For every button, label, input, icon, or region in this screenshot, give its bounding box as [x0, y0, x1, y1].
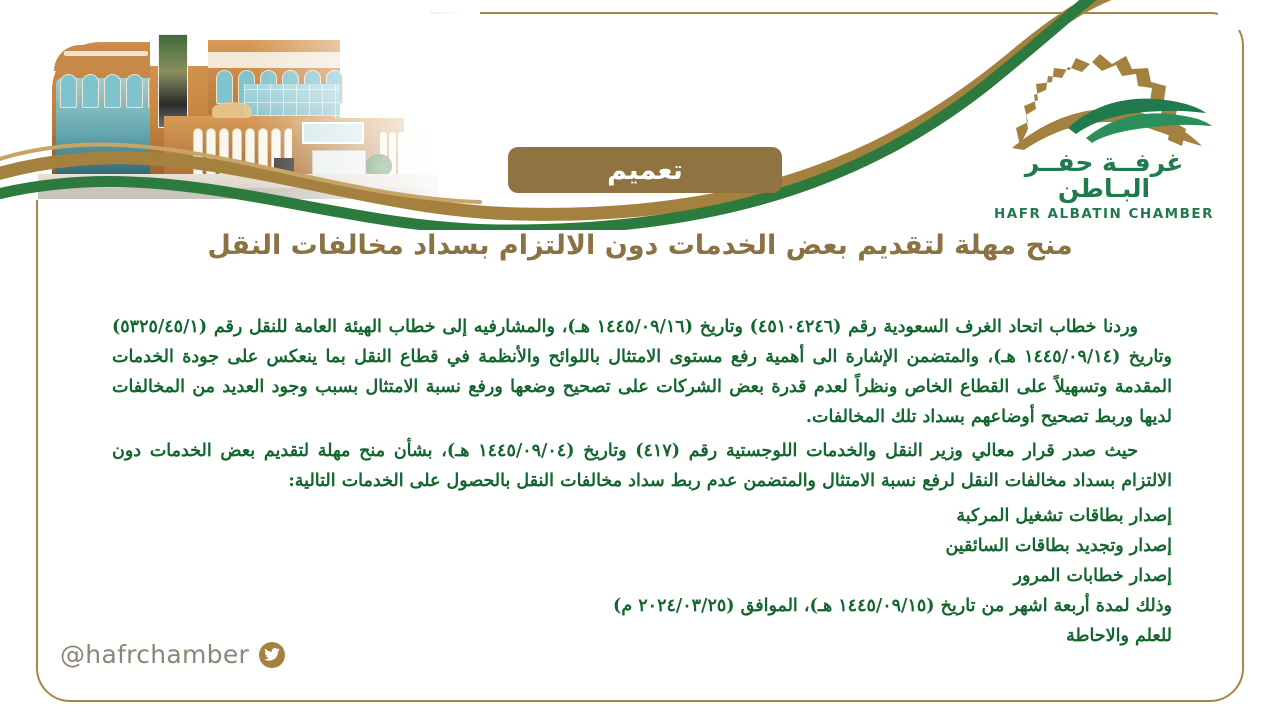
twitter-bird-icon[interactable]: [259, 642, 285, 668]
logo-arabic-name: غرفــة حفــر البـاطن: [990, 150, 1218, 203]
page-title: منح مهلة لتقديم بعض الخدمات دون الالتزام…: [110, 228, 1170, 264]
social-footer[interactable]: @hafrchamber: [60, 640, 285, 669]
circular-document-page: غرفــة حفــر البـاطن HAFR ALBATIN CHAMBE…: [0, 0, 1280, 720]
document-body: وردنا خطاب اتحاد الغرف السعودية رقم (٤٥١…: [112, 312, 1172, 651]
list-item: إصدار وتجديد بطاقات السائقين: [112, 531, 1172, 561]
list-item: إصدار بطاقات تشغيل المركبة: [112, 501, 1172, 531]
body-paragraph-2: حيث صدر قرار معالي وزير النقل والخدمات ا…: [112, 436, 1172, 496]
chamber-logo-mark-icon: [990, 42, 1218, 154]
list-item: إصدار خطابات المرور: [112, 561, 1172, 591]
services-list: إصدار بطاقات تشغيل المركبة إصدار وتجديد …: [112, 501, 1172, 591]
duration-line: وذلك لمدة أربعة اشهر من تاريخ (١٤٤٥/٠٩/١…: [112, 591, 1172, 621]
body-paragraph-1: وردنا خطاب اتحاد الغرف السعودية رقم (٤٥١…: [112, 312, 1172, 432]
chamber-logo: غرفــة حفــر البـاطن HAFR ALBATIN CHAMBE…: [990, 42, 1218, 202]
logo-english-name: HAFR ALBATIN CHAMBER: [990, 206, 1218, 222]
twitter-handle-text[interactable]: @hafrchamber: [60, 640, 249, 669]
swoosh-green-path: [0, 0, 1105, 230]
circular-type-badge: تعميم: [508, 147, 782, 193]
